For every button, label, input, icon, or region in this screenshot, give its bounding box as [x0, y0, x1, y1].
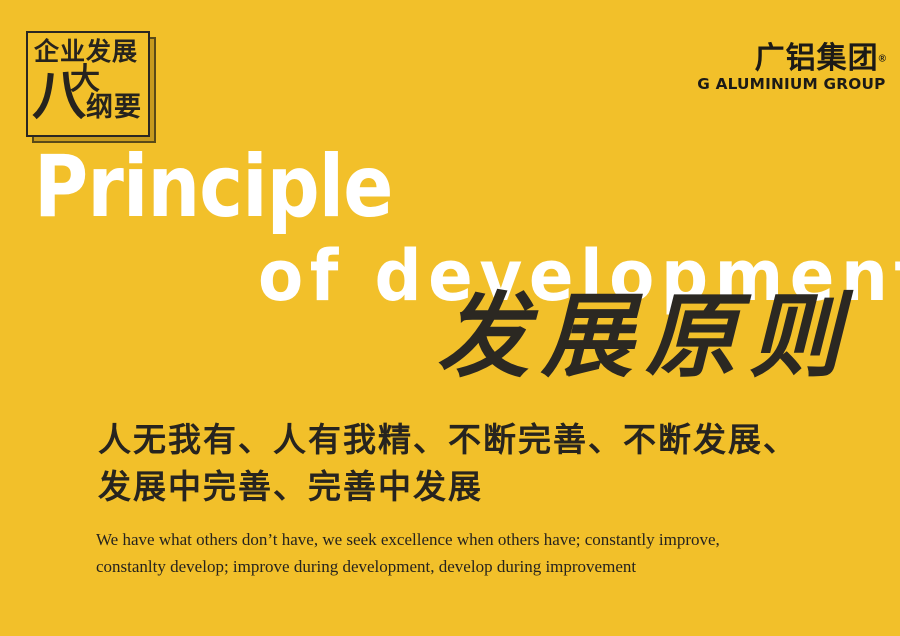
stamp-line-two: 纲要	[86, 93, 142, 123]
company-logo: 广铝集团® G ALUMINIUM GROUP	[701, 44, 886, 92]
headline-line-one: Principle	[34, 144, 393, 230]
poster-canvas: 企业发展 八 大 纲要 广铝集团® G ALUMINIUM GROUP Prin…	[0, 0, 900, 636]
registered-trademark-icon: ®	[879, 54, 886, 65]
corporate-outline-stamp: 企业发展 八 大 纲要	[26, 31, 150, 137]
chinese-slogan-line: 发展中完善、完善中发展	[98, 463, 888, 510]
logo-english-text: G ALUMINIUM GROUP	[698, 77, 886, 92]
english-translation-line: constanlty develop; improve during devel…	[96, 553, 876, 580]
logo-chinese-wordmark: 广铝集团®	[701, 44, 886, 74]
chinese-slogan-block: 人无我有、人有我精、不断完善、不断发展、 发展中完善、完善中发展	[98, 416, 888, 510]
logo-chinese-text: 广铝集团	[755, 44, 879, 74]
english-translation-block: We have what others don’t have, we seek …	[96, 526, 876, 580]
chinese-title: 发展原则	[437, 288, 853, 384]
english-translation-line: We have what others don’t have, we seek …	[96, 526, 876, 553]
chinese-slogan-line: 人无我有、人有我精、不断完善、不断发展、	[98, 416, 888, 463]
stamp-border-box: 企业发展 八 大 纲要	[26, 31, 150, 137]
